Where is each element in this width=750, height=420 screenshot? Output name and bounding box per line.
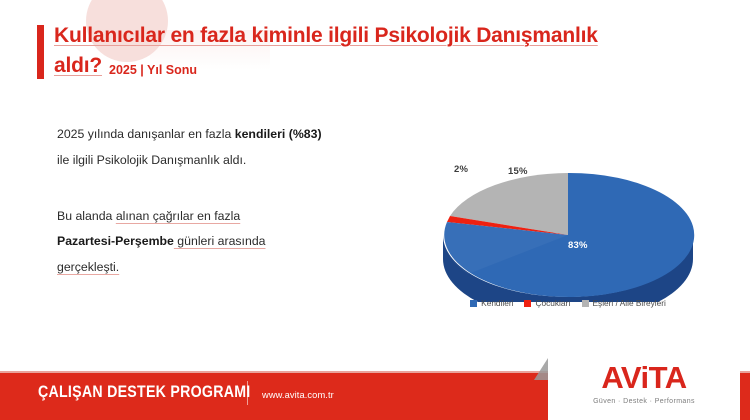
- paragraph-two-cont: Pazartesi-Perşembe günleri arasında: [57, 229, 387, 255]
- pie-chart: 83% 15% 2% Kendileri Çocukları Eşleri / …: [428, 152, 708, 327]
- para1-text-a: 2025 yılında danışanlar en fazla: [57, 127, 235, 141]
- logo-fold-icon: [534, 358, 548, 380]
- page-title-line1: Kullanıcılar en fazla kiminle ilgili Psi…: [54, 22, 598, 50]
- para2-text-a: Bu alanda: [57, 209, 116, 223]
- para2-underline-b: günleri arasında: [174, 234, 266, 248]
- legend-item-kendileri[interactable]: Kendileri: [470, 298, 513, 308]
- legend-swatch-icon-esleri: [582, 300, 589, 307]
- legend-label-cocuklari: Çocukları: [535, 298, 570, 308]
- pie-chart-svg: [428, 152, 708, 302]
- legend-label-kendileri: Kendileri: [481, 298, 513, 308]
- legend-item-cocuklari[interactable]: Çocukları: [524, 298, 570, 308]
- footer-program-title: ÇALIŞAN DESTEK PROGRAMI: [38, 383, 250, 402]
- para2-highlight: Pazartesi-Perşembe: [57, 234, 174, 248]
- paragraph-two-end: gerçekleşti.: [57, 255, 387, 281]
- footer-divider: [247, 381, 248, 405]
- chart-legend: Kendileri Çocukları Eşleri / Aile Bireyl…: [428, 298, 708, 308]
- title-accent-bar: [37, 25, 44, 79]
- para2-underline-c: gerçekleşti.: [57, 260, 119, 274]
- page-title-line2: aldı?: [54, 52, 102, 80]
- paragraph-one: 2025 yılında danışanlar en fazla kendile…: [57, 122, 387, 148]
- brand-logo-tagline: Güven · Destek · Performans: [548, 398, 740, 405]
- slide-canvas: Kullanıcılar en fazla kiminle ilgili Psi…: [0, 0, 750, 420]
- brand-logo-panel: AViTA Güven · Destek · Performans: [548, 358, 740, 420]
- legend-label-esleri: Eşleri / Aile Bireyleri: [593, 298, 666, 308]
- paragraph-two: Bu alanda alınan çağrılar en fazla: [57, 204, 387, 230]
- logo-red-cap: [740, 373, 750, 420]
- legend-swatch-icon-cocuklari: [524, 300, 531, 307]
- page-title: Kullanıcılar en fazla kiminle ilgili Psi…: [54, 22, 704, 79]
- paragraph-one-cont: ile ilgili Psikolojik Danışmanlık aldı.: [57, 148, 387, 174]
- body-copy: 2025 yılında danışanlar en fazla kendile…: [57, 122, 387, 281]
- legend-item-esleri[interactable]: Eşleri / Aile Bireyleri: [582, 298, 666, 308]
- page-subtitle: 2025 | Yıl Sonu: [109, 63, 197, 79]
- legend-swatch-icon-kendileri: [470, 300, 477, 307]
- para2-underline-a: alınan çağrılar en fazla: [116, 209, 240, 223]
- footer-url[interactable]: www.avita.com.tr: [262, 390, 334, 400]
- para1-highlight: kendileri (%83): [235, 127, 322, 141]
- brand-logo-wordmark: AViTA: [548, 362, 740, 393]
